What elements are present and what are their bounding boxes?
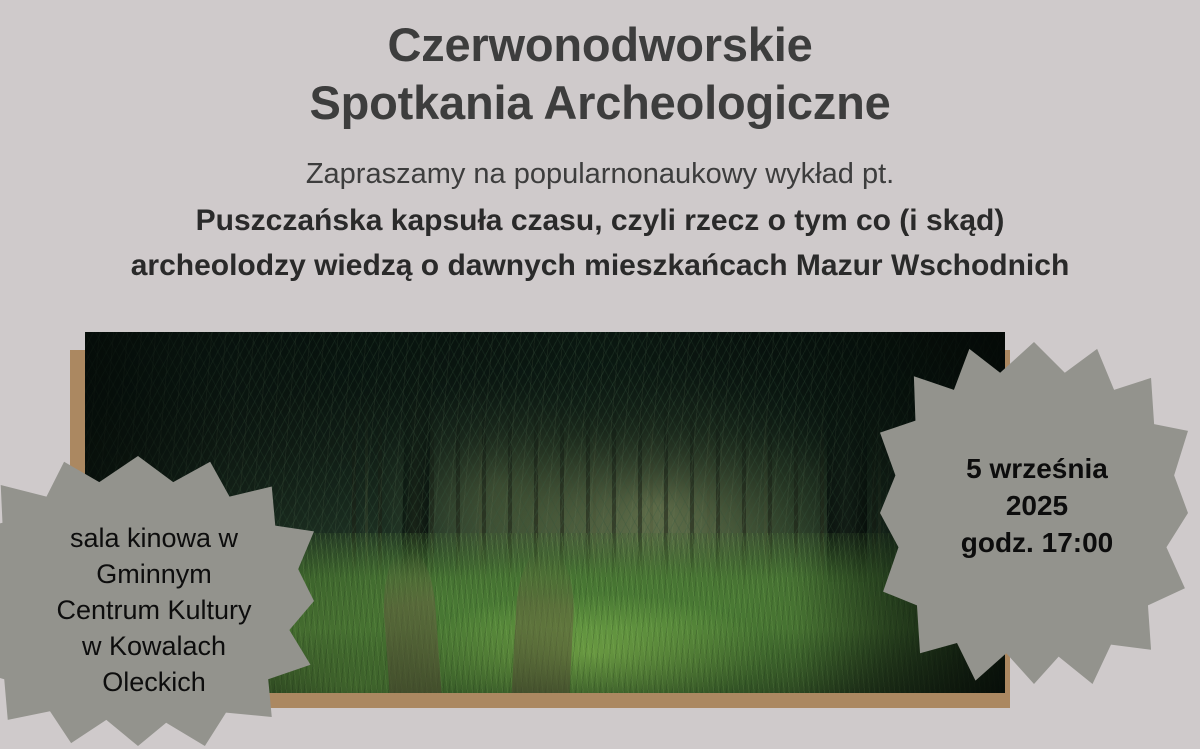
venue-line-3: Centrum Kultury: [20, 592, 288, 628]
event-date: 5 września: [912, 450, 1162, 487]
invitation-text: Zapraszamy na popularnonaukowy wykład pt…: [0, 132, 1200, 194]
venue-line-5: Oleckich: [20, 664, 288, 700]
poster-text-block: Czerwonodworskie Spotkania Archeologiczn…: [0, 0, 1200, 288]
lecture-title-line-2: archeolodzy wiedzą o dawnych mieszkańcac…: [0, 243, 1200, 288]
venue-text: sala kinowa w Gminnym Centrum Kultury w …: [20, 520, 288, 700]
page-title: Czerwonodworskie Spotkania Archeologiczn…: [0, 0, 1200, 132]
event-time: godz. 17:00: [912, 524, 1162, 561]
poster-canvas: Czerwonodworskie Spotkania Archeologiczn…: [0, 0, 1200, 749]
event-date-text: 5 września 2025 godz. 17:00: [912, 450, 1162, 561]
event-year: 2025: [912, 487, 1162, 524]
lecture-title: Puszczańska kapsuła czasu, czyli rzecz o…: [0, 194, 1200, 288]
title-line-1: Czerwonodworskie: [0, 16, 1200, 74]
venue-line-2: Gminnym: [20, 556, 288, 592]
title-line-2: Spotkania Archeologiczne: [0, 74, 1200, 132]
venue-line-4: w Kowalach: [20, 628, 288, 664]
lecture-title-line-1: Puszczańska kapsuła czasu, czyli rzecz o…: [0, 198, 1200, 243]
venue-line-1: sala kinowa w: [20, 520, 288, 556]
